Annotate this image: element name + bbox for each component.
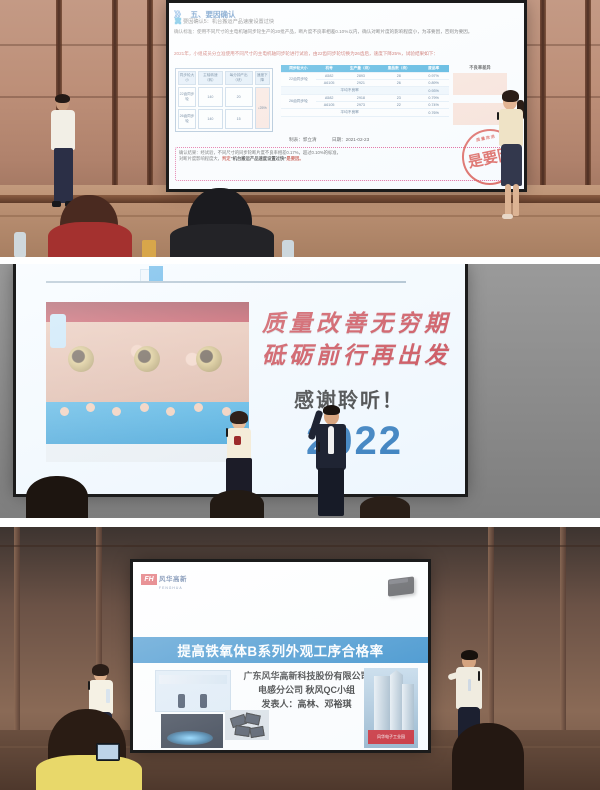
company-logo: FH 风华高新 FENGHUA: [141, 568, 187, 590]
logo-mark-icon: FH: [141, 574, 157, 585]
slide-decoration: [136, 264, 166, 282]
audience-head-3: [26, 476, 88, 518]
table-row: 26齿同步轮 A582 2918 23 0.79%: [281, 95, 449, 102]
table-row: 22齿同步轮 140 20 ↓25%: [178, 87, 270, 107]
speed-table-header-size: 同步轮大小: [178, 71, 196, 85]
male-presenter-panel2: [312, 406, 350, 518]
panel-cause-confirmation: 》》 五、要因确认 要因确认5：机台搬运产品速度设置过快 确认标准：使用不同尺寸…: [0, 0, 600, 257]
audience-body-1: [48, 222, 132, 257]
logo-english-name: FENGHUA: [159, 586, 187, 590]
cup-1: [142, 240, 156, 257]
calligraphy-line-2: 砥砺前行再出发: [262, 336, 451, 370]
park-banner: 风华电子工业园: [368, 730, 414, 744]
calligraphy-line-1: 质量改善无穷期: [262, 304, 451, 338]
panel-closing-slide: 质量改善无穷期 砥砺前行再出发 感谢聆听！ 2022: [0, 264, 600, 518]
product-image: [388, 576, 414, 596]
audience-body-2: [170, 224, 274, 257]
slide-rule: [46, 281, 406, 283]
corporate-tower-photo: 风华电子工业园: [364, 668, 418, 748]
audience-body-6: [36, 755, 142, 790]
water-bottle-1: [14, 232, 26, 257]
slide-paragraph-2: 2021年，小组成员分立准使用不同尺寸的主电机轴同步轮进行试验，由22齿同步轮切…: [174, 50, 520, 57]
phone-device: [96, 743, 120, 761]
slide-header: 》》 五、要因确认: [174, 6, 520, 17]
production-line-photo: [161, 714, 223, 748]
photo-collage: 》》 五、要因确认 要因确认5：机台搬运产品速度设置过快 确认标准：使用不同尺寸…: [0, 0, 600, 790]
table-row: 22齿同步轮 A582 2893 28 0.97%: [281, 73, 449, 80]
speed-drop-value: ↓25%: [255, 87, 271, 129]
park-banner-text: 风华电子工业园: [368, 730, 414, 744]
title-banner: 提高铁氧体B系列外观工序合格率: [133, 637, 428, 663]
panel-title-slide: FH 风华高新 FENGHUA 提高铁氧体B系列外观工序合格率 广东风华高新科技…: [0, 527, 600, 790]
slide-paragraph-1: 确认标准：使用不同尺寸的主电机轴同步轮生产的20批产品，断片度不良率相差0.10…: [174, 28, 520, 35]
scrap-header-rate: 废品率: [418, 65, 449, 73]
credit-date: 日期：2021-02-23: [332, 137, 369, 142]
scrap-header-machine: 机号: [316, 65, 343, 73]
scrap-header-size: 同步轮大小: [281, 65, 316, 73]
scrap-header-output: 生产量（块）: [342, 65, 379, 73]
conclusion-highlight: 判定: [222, 156, 231, 161]
speed-table-header-rpm: 主轴转速（转）: [198, 71, 223, 85]
conclusion-suffix: 是要因。: [286, 156, 303, 161]
scrap-diff-header: 不良率差异: [451, 65, 509, 71]
credit-maker: 制表：郭立清: [289, 137, 317, 142]
projection-screen-panel1: 》》 五、要因确认 要因确认5：机台搬运产品速度设置过快 确认标准：使用不同尺寸…: [169, 3, 524, 189]
conclusion-quote: “机台搬运产品速度设置过快”: [231, 156, 287, 161]
table-row-average: 平均不良率 0.93%: [281, 87, 449, 95]
conclusion-prefix: 对断片度影响程度大，: [179, 156, 222, 161]
speed-table: 同步轮大小 主轴转速（转） 每分钟产出（块） 速度下降 22齿同步轮 140 2…: [175, 68, 273, 132]
audience-head-4: [210, 490, 264, 518]
speed-table-header-output: 每分钟产出（块）: [225, 71, 253, 85]
slide-credit: 制表：郭立清 日期：2021-02-23: [289, 137, 383, 143]
right-presenter-panel1: [497, 90, 531, 230]
microphone-icon: [497, 112, 499, 120]
projection-screen-panel3: FH 风华高新 FENGHUA 提高铁氧体B系列外观工序合格率 广东风华高新科技…: [133, 562, 428, 750]
puzzle-icon: [174, 17, 182, 25]
audience-head-5: [360, 496, 410, 518]
chip-components-photo: [225, 710, 269, 740]
slide-title: 提高铁氧体B系列外观工序合格率: [177, 640, 383, 660]
choir-photo: [46, 302, 249, 462]
scrap-header-count: 废品数（块）: [379, 65, 418, 73]
microphone-icon-3: [88, 681, 90, 690]
logo-chinese-name: 风华高新: [159, 576, 187, 583]
slide-subtitle: 要因确认5：机台搬运产品速度设置过快: [183, 18, 520, 25]
audience-head-7: [452, 723, 524, 790]
speed-table-header-drop: 速度下降: [255, 71, 271, 85]
water-bottle-2: [282, 240, 294, 257]
table-row-average: 平均不良率 0.76%: [281, 109, 449, 117]
scrap-rate-table: 同步轮大小 机号 生产量（块） 废品数（块） 废品率 22齿同步轮 A582 2…: [281, 65, 449, 117]
team-photo: [155, 670, 231, 712]
microphone-icon-4: [478, 671, 480, 681]
